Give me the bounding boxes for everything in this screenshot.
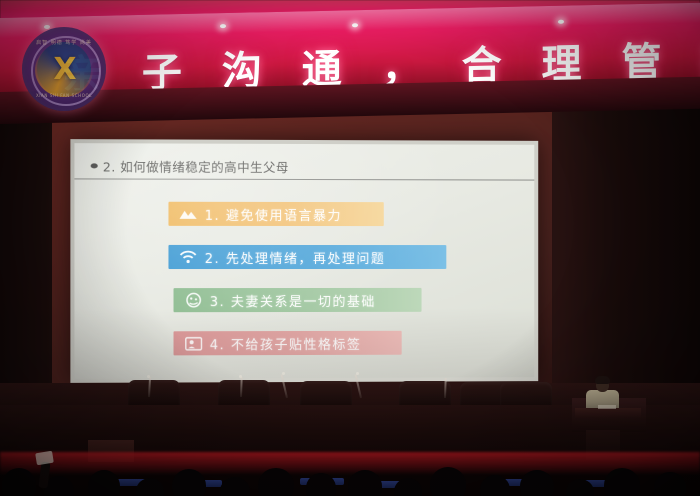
stage-chair — [218, 380, 270, 406]
audience-head — [654, 472, 686, 496]
audience-head — [220, 477, 250, 496]
projection-screen: 2. 如何做情绪稳定的高中生父母 1. 避免使用语言暴力 — [74, 143, 534, 379]
logo-x-glyph: X — [46, 53, 84, 87]
slide-title: 2. 如何做情绪稳定的高中生父母 — [103, 156, 289, 176]
speaker-desk-surface — [575, 408, 641, 418]
projection-screen-frame: 2. 如何做情绪稳定的高中生父母 1. 避免使用语言暴力 — [70, 139, 538, 383]
audience-head — [604, 468, 640, 496]
id-card-icon — [184, 335, 203, 351]
audience-head — [348, 470, 382, 496]
speaker-hair — [595, 376, 610, 384]
microphone-head — [356, 372, 359, 375]
logo-arc-top-text: 启智 明德 笃学 尚美 — [22, 39, 106, 46]
microphone-head — [147, 375, 150, 378]
wifi-icon — [179, 249, 198, 265]
school-logo: 启智 明德 笃学 尚美 X XIAN SHI FAN SCHOOL — [22, 27, 106, 111]
audience-head — [520, 470, 554, 496]
audience-head — [258, 468, 294, 496]
logo-arc-bottom-text: XIAN SHI FAN SCHOOL — [22, 93, 106, 98]
mountain-icon — [179, 206, 198, 222]
audience-head — [2, 468, 36, 496]
slide-bar-list: 1. 避免使用语言暴力 2. 先处理情绪，再处理问题 — [74, 202, 534, 375]
bullet-icon — [91, 163, 98, 168]
audience-head — [136, 478, 164, 496]
slide-bar-item: 4. 不给孩子贴性格标签 — [174, 331, 402, 356]
microphone-head — [282, 372, 285, 375]
slide-bar-item: 1. 避免使用语言暴力 — [168, 202, 383, 226]
microphone-head — [239, 375, 242, 378]
slide-bar-text: 2. 先处理情绪，再处理问题 — [205, 247, 386, 266]
slide-title-row: 2. 如何做情绪稳定的高中生父母 — [74, 153, 534, 180]
slide-bar-item: 3. 夫妻关系是一切的基础 — [174, 288, 422, 312]
slide-bar-text: 4. 不给孩子贴性格标签 — [210, 333, 362, 352]
slide-bar-item: 2. 先处理情绪，再处理问题 — [168, 245, 446, 269]
slide-bar-text: 1. 避免使用语言暴力 — [205, 204, 342, 223]
photo-scene: 亲 子 沟 通 ， 合 理 管 控 情 绪 启智 明德 笃学 尚美 X XIAN… — [0, 0, 700, 496]
audience-head — [394, 478, 422, 496]
slide-bar-text: 3. 夫妻关系是一切的基础 — [210, 290, 376, 309]
globe-icon — [184, 292, 203, 308]
audience-head — [306, 473, 336, 496]
audience-head — [88, 470, 120, 496]
audience-head — [172, 469, 206, 496]
stage-chair — [128, 380, 180, 406]
stage-chair — [300, 381, 352, 407]
audience-area — [0, 440, 700, 496]
right-wall — [545, 105, 700, 405]
audience-head — [430, 467, 466, 496]
speaker-papers — [598, 405, 616, 409]
